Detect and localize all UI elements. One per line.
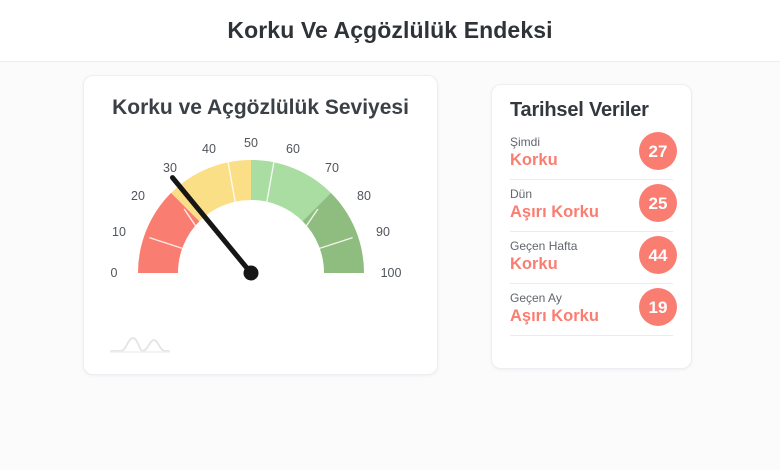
gauge-tick-0: 0 xyxy=(111,266,118,280)
mountain-chart-logo-icon xyxy=(109,330,171,356)
gauge-tick-30: 30 xyxy=(163,161,177,175)
gauge-tick-40: 40 xyxy=(202,142,216,156)
app-header: Korku Ve Açgözlülük Endeksi xyxy=(0,0,780,62)
status-badge: 44 xyxy=(639,236,677,274)
historical-data-card: Tarihsel Veriler Şimdi Korku 27 Dün Aşır… xyxy=(491,84,692,369)
gauge-tick-50: 50 xyxy=(244,138,258,150)
historical-data-list: Şimdi Korku 27 Dün Aşırı Korku 25 Geçen … xyxy=(510,128,673,336)
gauge-tick-80: 80 xyxy=(357,189,371,203)
gauge-tick-20: 20 xyxy=(131,189,145,203)
fear-greed-gauge: 0 10 20 30 40 50 60 70 80 90 100 xyxy=(96,138,426,313)
status-badge: 27 xyxy=(639,132,677,170)
historical-data-title: Tarihsel Veriler xyxy=(510,99,673,122)
gauge-tick-60: 60 xyxy=(286,142,300,156)
gauge-tick-70: 70 xyxy=(325,161,339,175)
status-badge: 19 xyxy=(639,288,677,326)
gauge-svg: 0 10 20 30 40 50 60 70 80 90 100 xyxy=(96,138,426,313)
list-item[interactable]: Şimdi Korku 27 xyxy=(510,128,673,180)
page-title: Korku Ve Açgözlülük Endeksi xyxy=(227,17,552,44)
gauge-tick-90: 90 xyxy=(376,225,390,239)
gauge-card-title: Korku ve Açgözlülük Seviyesi xyxy=(84,96,437,120)
list-item[interactable]: Geçen Ay Aşırı Korku 19 xyxy=(510,284,673,336)
gauge-tick-100: 100 xyxy=(381,266,402,280)
status-badge: 25 xyxy=(639,184,677,222)
gauge-card: Korku ve Açgözlülük Seviyesi xyxy=(83,75,438,375)
main-content: Korku ve Açgözlülük Seviyesi xyxy=(0,62,780,470)
gauge-tick-10: 10 xyxy=(112,225,126,239)
list-item[interactable]: Dün Aşırı Korku 25 xyxy=(510,180,673,232)
list-item[interactable]: Geçen Hafta Korku 44 xyxy=(510,232,673,284)
